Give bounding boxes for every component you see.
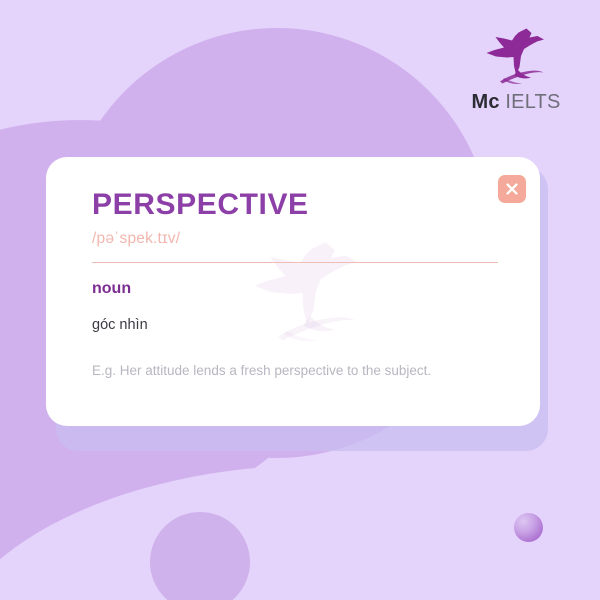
decorative-sphere [514, 513, 543, 542]
hummingbird-icon [474, 26, 558, 88]
phonetic-transcription: /pəˈspek.tɪv/ [92, 230, 494, 248]
brand-name-mc: Mc [471, 91, 499, 113]
word-definition-card: PERSPECTIVE /pəˈspek.tɪv/ noun góc nhìn … [46, 157, 540, 426]
background-wave-cutout [0, 465, 600, 600]
brand-name: Mc IELTS [466, 92, 566, 112]
brand-logo: Mc IELTS [466, 26, 566, 112]
dictionary-card-screen: Mc IELTS PERSPECTIVE /pəˈspek.tɪv/ noun … [0, 0, 600, 600]
page-title: PERSPECTIVE [92, 189, 494, 221]
part-of-speech-label: noun [92, 280, 494, 298]
card-content: PERSPECTIVE /pəˈspek.tɪv/ noun góc nhìn … [46, 157, 540, 426]
close-button[interactable] [498, 175, 526, 203]
close-icon [505, 182, 519, 196]
background-circle-bottom [150, 512, 250, 600]
example-sentence: E.g. Her attitude lends a fresh perspect… [92, 363, 494, 378]
brand-name-ielts: IELTS [505, 91, 560, 113]
word-meaning: góc nhìn [92, 317, 494, 333]
divider [92, 262, 498, 263]
